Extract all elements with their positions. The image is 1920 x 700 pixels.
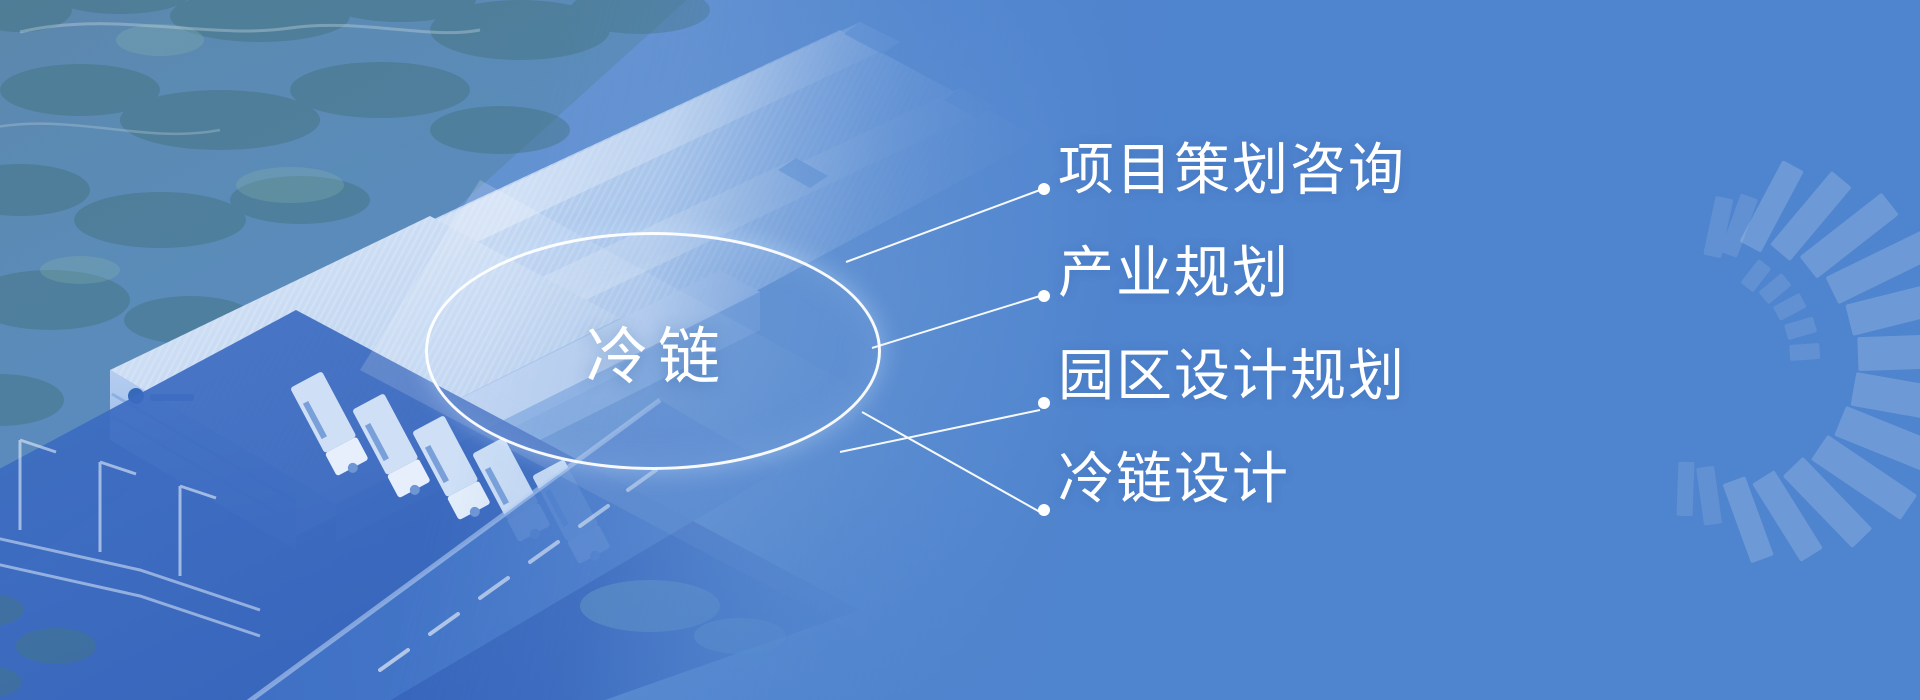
service-item-1[interactable]: 项目策划咨询 <box>1058 118 1678 221</box>
service-list: 项目策划咨询 产业规划 园区设计规划 冷链设计 <box>1058 118 1678 530</box>
service-label: 冷链设计 <box>1058 451 1290 507</box>
service-item-3[interactable]: 园区设计规划 <box>1058 324 1678 427</box>
cold-chain-banner: 冷链 项目策划咨询 产业规划 园区设计规划 冷链设计 <box>0 0 1920 700</box>
center-badge-label: 冷链 <box>576 306 730 396</box>
service-label: 园区设计规划 <box>1058 348 1406 404</box>
center-badge: 冷链 <box>425 232 881 470</box>
service-label: 产业规划 <box>1058 245 1290 301</box>
service-label: 项目策划咨询 <box>1058 142 1406 198</box>
service-item-2[interactable]: 产业规划 <box>1058 221 1678 324</box>
service-item-4[interactable]: 冷链设计 <box>1058 427 1678 530</box>
